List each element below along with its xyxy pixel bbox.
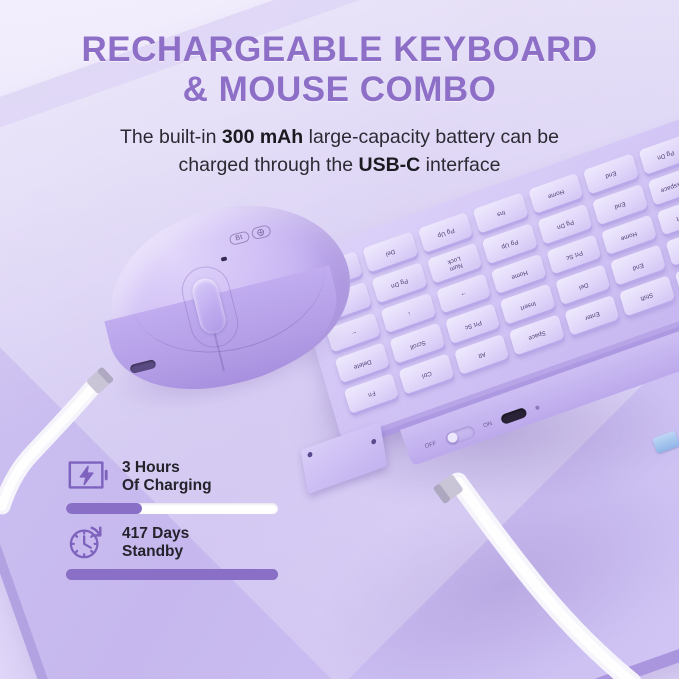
foot-dot-left <box>307 451 313 458</box>
keyboard-key-label: Num Lock <box>446 254 462 271</box>
keyboard-key-label: Home <box>620 229 638 241</box>
foot-dot-right <box>371 438 377 445</box>
keyboard-key-label: Del <box>385 247 396 256</box>
subtitle-line-2: charged through the USB-C interface <box>0 151 679 179</box>
keyboard-usb-c-port <box>500 407 528 425</box>
bluetooth-icon: Bt <box>228 230 250 245</box>
keyboard-key-label: End <box>632 260 645 270</box>
usb-c-cable-right <box>380 470 679 679</box>
keyboard-key-label: Scroll <box>409 338 426 350</box>
keyboard-key-label: ↓ <box>406 309 411 316</box>
keyboard-key-label: Prt Sc <box>464 318 482 330</box>
feature-charging-label: Of Charging <box>122 477 212 495</box>
keyboard-key-label: Prt Sc <box>565 248 583 260</box>
keyboard-key-label: Shift <box>640 291 654 302</box>
feature-standby-progress-track <box>66 569 278 580</box>
headline-line-1: RECHARGEABLE KEYBOARD <box>81 30 597 69</box>
feature-standby: 417 Days Standby <box>66 524 278 580</box>
keyboard-key-label: Enter <box>584 310 600 321</box>
feature-standby-value: 417 Days <box>122 525 189 542</box>
keyboard-key-label: Ctrl <box>421 369 432 379</box>
keyboard-key-label: Ins <box>496 208 506 217</box>
feature-charging-progress-track <box>66 503 278 514</box>
feature-standby-row: 417 Days Standby <box>66 524 278 562</box>
feature-standby-progress-fill <box>66 569 278 580</box>
keyboard-key-label: → <box>460 289 468 297</box>
subtitle-bold-usbc: USB-C <box>359 154 421 176</box>
clock-standby-icon <box>66 524 110 562</box>
battery-charging-icon <box>66 458 110 496</box>
keyboard-key-label: Home <box>510 268 528 280</box>
subtitle-line2-part-1: charged through the <box>179 154 359 176</box>
feature-charging-value: 3 Hours <box>122 459 180 476</box>
keyboard-status-led <box>535 405 540 410</box>
feature-charging: 3 Hours Of Charging <box>66 458 278 514</box>
power-switch-on-label: ON <box>483 421 493 430</box>
headline-line-2: & MOUSE COMBO <box>0 70 679 110</box>
subtitle-line2-part-2: interface <box>420 154 500 176</box>
hero-text-block: RECHARGEABLE KEYBOARD & MOUSE COMBO The … <box>0 30 679 179</box>
feature-standby-label: Standby <box>122 543 189 561</box>
subtitle-part-1: The built-in <box>120 126 222 148</box>
feature-standby-text: 417 Days Standby <box>122 525 189 560</box>
keyboard-key-label: Del <box>577 280 588 289</box>
subtitle-part-2: large-capacity battery can be <box>303 126 559 148</box>
feature-charging-progress-fill <box>66 503 142 514</box>
feature-badges: 3 Hours Of Charging <box>66 458 278 590</box>
power-switch-off-label: OFF <box>424 441 437 451</box>
keyboard-key-label: Pg Dn <box>555 218 574 230</box>
headline: RECHARGEABLE KEYBOARD & MOUSE COMBO <box>0 30 679 110</box>
keyboard-key-label: Pg Dn <box>390 276 409 288</box>
keyboard-key-label: Alt <box>477 350 486 359</box>
power-switch[interactable] <box>444 424 477 446</box>
subtitle-bold-capacity: 300 mAh <box>222 126 303 148</box>
keyboard-key-label: Home <box>547 187 565 199</box>
feature-charging-row: 3 Hours Of Charging <box>66 458 278 496</box>
keyboard-key-label: Pg Up <box>500 237 519 249</box>
keyboard-key-label: End <box>614 199 627 209</box>
keyboard-key-label: Insert <box>519 299 536 311</box>
keyboard-key-label: Pg Up <box>436 226 455 238</box>
feature-charging-text: 3 Hours Of Charging <box>122 459 212 494</box>
keyboard-key-label: Insert <box>675 210 679 222</box>
subtitle: The built-in 300 mAh large-capacity batt… <box>0 123 679 180</box>
keyboard-key-label: Space <box>527 329 546 341</box>
wireless-mode-icon: ⨁ <box>250 224 272 240</box>
product-hero-image: RECHARGEABLE KEYBOARD & MOUSE COMBO The … <box>0 0 679 679</box>
power-switch-knob[interactable] <box>446 431 459 444</box>
